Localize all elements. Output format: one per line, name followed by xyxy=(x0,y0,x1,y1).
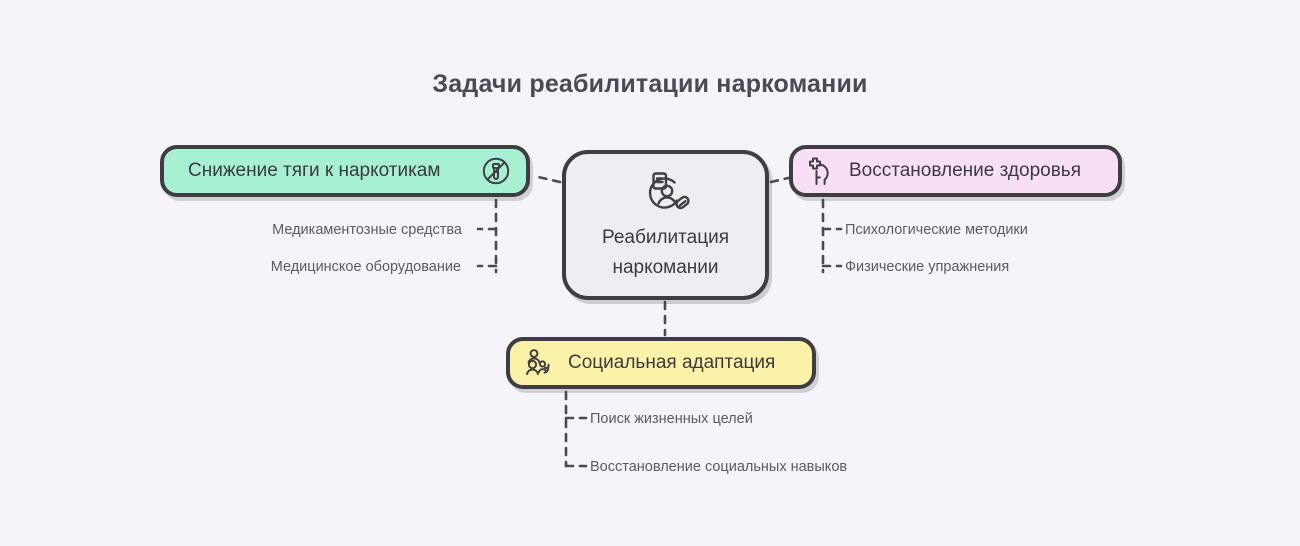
people-group-icon xyxy=(524,348,556,378)
leaf-left-2: Медицинское оборудование xyxy=(261,259,461,275)
no-drugs-icon xyxy=(480,155,512,187)
node-branch-right-label: Восстановление здоровья xyxy=(849,160,1081,182)
leaf-bottom-2: Восстановление социальных навыков xyxy=(590,459,847,475)
node-branch-left[interactable]: Снижение тяги к наркотикам xyxy=(160,145,530,197)
node-center[interactable]: Реабилитация наркомании xyxy=(562,150,769,300)
leaf-right-1: Психологические методики xyxy=(845,222,1028,238)
person-document-pill-icon xyxy=(640,170,692,218)
center-label-line1: Реабилитация xyxy=(602,226,729,250)
center-label-line2: наркомании xyxy=(612,256,718,280)
leaf-right-2: Физические упражнения xyxy=(845,259,1009,275)
head-medical-cross-icon xyxy=(807,155,837,187)
edge-center-left xyxy=(534,176,560,182)
leaf-bottom-1: Поиск жизненных целей xyxy=(590,411,753,427)
node-branch-left-label: Снижение тяги к наркотикам xyxy=(188,160,440,182)
leaf-left-1: Медикаментозные средства xyxy=(262,222,462,238)
mindmap-canvas: Задачи реабилитации наркомании Реабилита… xyxy=(0,0,1300,546)
node-branch-bottom[interactable]: Социальная адаптация xyxy=(506,337,816,389)
node-branch-right[interactable]: Восстановление здоровья xyxy=(789,145,1122,197)
node-branch-bottom-label: Социальная адаптация xyxy=(568,352,775,374)
page-title: Задачи реабилитации наркомании xyxy=(0,70,1300,99)
